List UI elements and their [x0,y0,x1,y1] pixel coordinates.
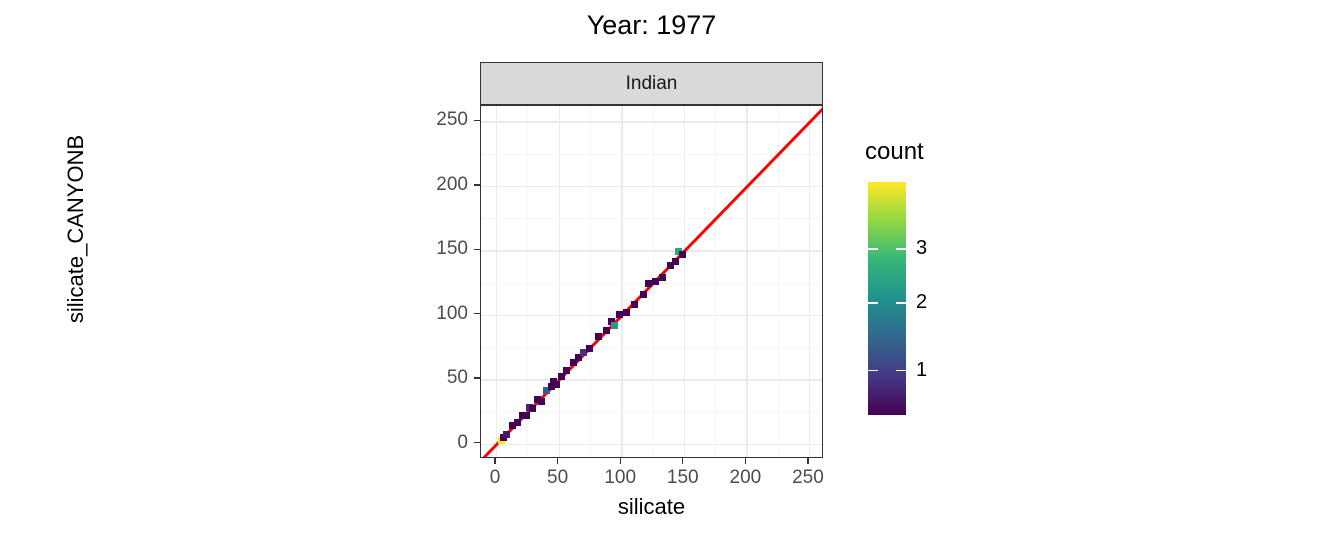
legend-tick-label: 2 [916,292,927,312]
x-axis-tick-mark [807,458,808,464]
data-point [503,431,510,438]
gridline-major-vertical [496,106,497,457]
x-axis-tick-mark [682,458,683,464]
gridline-major-vertical [684,106,685,457]
y-axis-tick-mark [474,184,480,185]
y-axis-title: silicate_CANYONB [63,49,89,409]
x-axis-tick-label: 0 [465,468,525,487]
chart-root: Year: 1977 Indian 050100150200250 050100… [0,0,1344,537]
gridline-minor-vertical [590,106,591,457]
legend-title: count [865,138,924,166]
y-axis-tick-label: 200 [408,175,468,194]
legend-tick-mark [868,248,906,250]
x-axis-tick-label: 100 [590,468,650,487]
gridline-major-horizontal [481,121,822,122]
x-axis-tick-mark [745,458,746,464]
y-axis-tick-mark [474,313,480,314]
facet-strip-label: Indian [481,63,822,104]
gridline-major-horizontal [481,250,822,251]
data-point [652,278,659,285]
gridline-minor-horizontal [481,154,822,155]
legend-tick-label: 3 [916,238,927,258]
legend-tick-label: 1 [916,360,927,380]
gridline-major-horizontal [481,186,822,187]
data-point [514,419,521,426]
legend: count 321 [860,138,1010,438]
gridline-major-horizontal [481,379,822,380]
page-title: Year: 1977 [479,8,824,42]
data-point [595,333,602,340]
data-point [611,322,618,329]
data-point [558,373,565,380]
gridline-major-vertical [621,106,622,457]
x-axis-tick-label: 150 [653,468,713,487]
data-point [586,345,593,352]
plot-area [481,106,822,457]
y-axis-tick-label: 150 [408,239,468,258]
x-axis-tick-mark [494,458,495,464]
data-point [553,381,560,388]
y-axis-tick-mark [474,377,480,378]
y-axis-tick-mark [474,442,480,443]
plot-panel [480,105,823,458]
data-point [623,309,630,316]
gridline-major-horizontal [481,444,822,445]
gridline-major-vertical [809,106,810,457]
gridline-minor-horizontal [481,218,822,219]
data-point [603,327,610,334]
data-point [529,405,536,412]
y-axis-tick-mark [474,120,480,121]
x-axis-tick-label: 200 [715,468,775,487]
legend-tick-mark [868,370,906,372]
gridline-major-vertical [559,106,560,457]
x-axis-tick-label: 50 [528,468,588,487]
data-point [631,301,638,308]
data-point [563,367,570,374]
data-point [659,274,666,281]
y-axis-tick-label: 50 [408,368,468,387]
data-point [523,412,530,419]
legend-colorbar [868,182,906,415]
gridline-minor-horizontal [481,347,822,348]
gridline-minor-vertical [778,106,779,457]
y-axis-tick-label: 250 [408,110,468,129]
gridline-major-horizontal [481,315,822,316]
x-axis-tick-mark [557,458,558,464]
data-point [672,258,679,265]
data-point [538,398,545,405]
legend-tick-mark [868,302,906,304]
y-axis-tick-mark [474,249,480,250]
gridline-minor-vertical [715,106,716,457]
y-axis-tick-label: 100 [408,304,468,323]
data-point [679,251,686,258]
y-axis-tick-label: 0 [408,433,468,452]
x-axis-tick-mark [620,458,621,464]
data-point [640,291,647,298]
facet-strip: Indian [480,62,823,105]
x-axis-tick-label: 250 [778,468,838,487]
x-axis-title: silicate [479,494,824,520]
gridline-major-vertical [746,106,747,457]
